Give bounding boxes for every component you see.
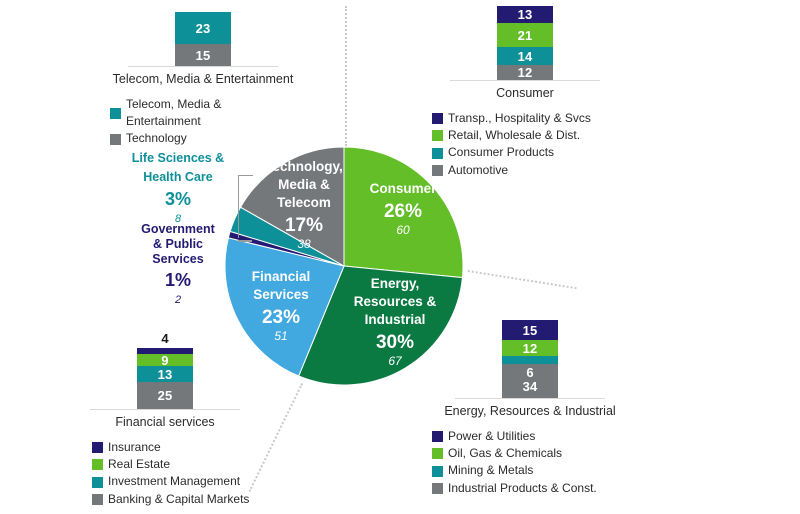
segment-value: 34 [502, 380, 558, 393]
bar-inner-value: 6 [502, 366, 558, 379]
bar-segment: 13 [137, 366, 193, 382]
segment-value: 15 [196, 49, 211, 62]
legend-item[interactable]: Real Estate [92, 456, 260, 473]
legend-label: Oil, Gas & Chemicals [448, 445, 562, 462]
segment-value: 12 [523, 342, 538, 355]
pie-callout-life-sciences: Life Sciences & Health Care 3% 8 [118, 148, 238, 226]
callout-name: Life Sciences & Health Care [132, 151, 224, 184]
segment-value: 21 [518, 29, 533, 42]
bar-segment: 12 [497, 65, 553, 80]
legend-label: Power & Utilities [448, 428, 535, 445]
legend-label: Industrial Products & Const. [448, 480, 597, 497]
legend-label: Insurance [108, 439, 161, 456]
bar-energy: 15 12 34 6 [502, 320, 558, 398]
segment-value: 13 [158, 368, 173, 381]
segment-value: 15 [523, 324, 538, 337]
legend-swatch [432, 431, 443, 442]
legend-item[interactable]: Transp., Hospitality & Svcs [432, 110, 620, 127]
bar-baseline [450, 80, 600, 81]
bar-segment: 21 [497, 23, 553, 47]
bar-title: Financial services [70, 415, 260, 431]
pie-slice[interactable] [344, 147, 463, 278]
callout-value: 2 [118, 294, 238, 307]
bar-segment: 23 [175, 12, 231, 44]
bar-telecom: 23 15 [175, 12, 231, 66]
legend-swatch [432, 483, 443, 494]
chart-canvas: 23 15 Telecom, Media & Entertainment Tel… [0, 0, 800, 514]
legend-swatch [432, 466, 443, 477]
leader-line-energy [468, 270, 577, 289]
bar-title: Energy, Resources & Industrial [430, 404, 630, 420]
legend-label: Real Estate [108, 456, 170, 473]
callout-hook-life-sciences [238, 175, 253, 238]
legend-swatch [432, 113, 443, 124]
bar-segment: 12 [502, 340, 558, 356]
legend-label: Telecom, Media & Entertainment [126, 96, 298, 131]
pie-svg [224, 146, 464, 386]
bar-baseline [128, 66, 278, 67]
legend-item[interactable]: Oil, Gas & Chemicals [432, 445, 630, 462]
legend-label: Banking & Capital Markets [108, 491, 249, 508]
bar-title: Telecom, Media & Entertainment [108, 72, 298, 88]
legend-swatch [92, 442, 103, 453]
bar-segment [502, 356, 558, 364]
legend-item[interactable]: Power & Utilities [432, 428, 630, 445]
segment-value: 25 [158, 389, 173, 402]
segment-value: 12 [518, 66, 533, 79]
leader-line-consumer [345, 6, 347, 146]
segment-value: 14 [518, 50, 533, 63]
legend-item[interactable]: Industrial Products & Const. [432, 480, 630, 497]
callout-name: Government& PublicServices [118, 222, 238, 267]
legend-swatch [432, 448, 443, 459]
legend-swatch [432, 130, 443, 141]
legend-item[interactable]: Investment Management [92, 473, 260, 490]
bar-consumer: 13 21 14 12 [497, 6, 553, 80]
pie-chart [224, 146, 464, 386]
bar-segment: 13 [497, 6, 553, 23]
bar-segment: 15 [502, 320, 558, 340]
bar-segment: 15 [175, 44, 231, 66]
legend-item[interactable]: Insurance [92, 439, 260, 456]
segment-value: 13 [518, 8, 533, 21]
legend-label: Retail, Wholesale & Dist. [448, 127, 580, 144]
segment-value: 9 [161, 354, 168, 367]
satellite-telecom-media-entertainment: 23 15 Telecom, Media & Entertainment Tel… [108, 12, 298, 148]
callout-percent: 1% [118, 270, 238, 292]
legend-swatch [92, 459, 103, 470]
legend-label: Mining & Metals [448, 462, 533, 479]
legend-label: Transp., Hospitality & Svcs [448, 110, 591, 127]
bar-segment: 14 [497, 47, 553, 65]
bar-baseline [90, 409, 240, 410]
bar-title: Consumer [430, 86, 620, 102]
bar-financial: 9 13 25 [137, 348, 193, 409]
legend-energy: Power & Utilities Oil, Gas & Chemicals M… [430, 428, 630, 498]
legend-swatch [92, 494, 103, 505]
legend-financial: Insurance Real Estate Investment Managem… [70, 439, 260, 509]
legend-swatch [92, 477, 103, 488]
bar-baseline [455, 398, 605, 399]
callout-percent: 3% [118, 189, 238, 211]
legend-item[interactable]: Mining & Metals [432, 462, 630, 479]
callout-hook-government [238, 240, 252, 242]
pie-callout-government: Government& PublicServices 1% 2 [118, 222, 238, 307]
legend-swatch [110, 108, 121, 119]
bar-segment: 25 [137, 382, 193, 409]
legend-label: Technology [126, 130, 187, 147]
legend-item[interactable]: Banking & Capital Markets [92, 491, 260, 508]
legend-label: Investment Management [108, 473, 240, 490]
legend-telecom: Telecom, Media & Entertainment Technolog… [108, 96, 298, 148]
legend-item[interactable]: Retail, Wholesale & Dist. [432, 127, 620, 144]
legend-item[interactable]: Telecom, Media & Entertainment [110, 96, 298, 131]
legend-swatch [110, 134, 121, 145]
segment-value: 23 [196, 22, 211, 35]
bar-segment: 9 [137, 354, 193, 366]
